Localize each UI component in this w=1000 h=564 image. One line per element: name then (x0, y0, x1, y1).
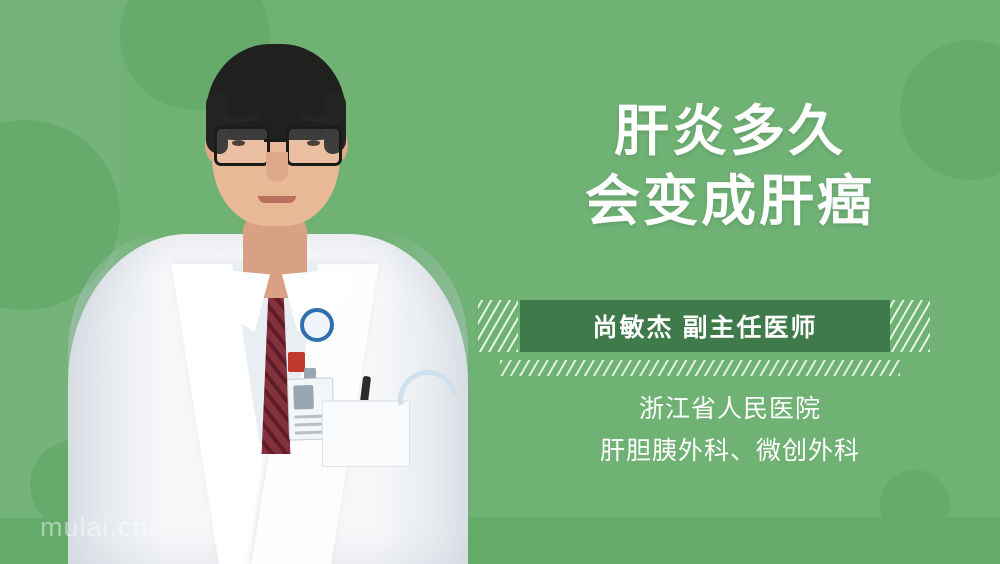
eyeglass-bridge (264, 139, 288, 142)
hatch-decoration-row (500, 360, 900, 376)
thumbnail-canvas: 肝炎多久 会变成肝癌 尚敏杰 副主任医师 浙江省人民医院 肝胆胰外科、微创外科 … (0, 0, 1000, 564)
doctor-name-text: 尚敏杰 副主任医师 (593, 308, 818, 344)
doctor-portrait (60, 0, 480, 564)
lapel-pin-icon (300, 308, 334, 342)
mouth (258, 196, 296, 203)
hatch-decoration-left (478, 300, 518, 352)
hatch-decoration-right (890, 300, 930, 352)
affiliation-hospital: 浙江省人民医院 (500, 388, 960, 430)
watermark: mulai.cn (40, 512, 149, 543)
eyeglass-lens-left (214, 126, 270, 166)
doctor-name-bar: 尚敏杰 副主任医师 (520, 300, 890, 352)
id-badge-line (294, 423, 322, 427)
nose (266, 152, 288, 182)
title-line-2: 会变成肝癌 (500, 166, 960, 236)
affiliation: 浙江省人民医院 肝胆胰外科、微创外科 (500, 388, 960, 472)
red-emblem-icon (288, 352, 305, 372)
title-line-1: 肝炎多久 (500, 96, 960, 166)
affiliation-department: 肝胆胰外科、微创外科 (500, 430, 960, 472)
id-badge-photo (293, 385, 314, 410)
page-title: 肝炎多久 会变成肝癌 (500, 96, 960, 236)
eyeglass-lens-right (286, 126, 342, 166)
coat-pocket (322, 400, 410, 467)
